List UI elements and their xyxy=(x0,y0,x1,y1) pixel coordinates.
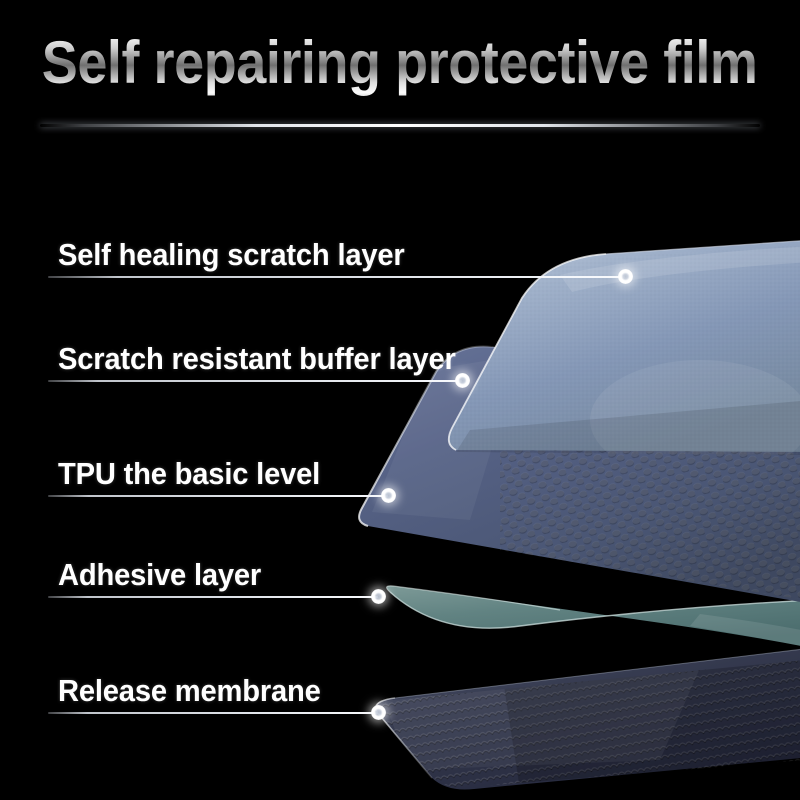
layer-release-membrane xyxy=(340,640,800,800)
leader-line xyxy=(48,380,462,382)
callout-self-healing-scratch-layer: Self healing scratch layer xyxy=(48,212,648,278)
callout-adhesive-layer: Adhesive layer xyxy=(48,532,408,598)
leader-dot xyxy=(455,373,470,388)
callout-label: Self healing scratch layer xyxy=(58,238,405,272)
leader-line xyxy=(48,276,625,278)
layer-adhesive xyxy=(387,586,800,648)
leader-dot xyxy=(618,269,633,284)
callout-label: TPU the basic level xyxy=(58,457,320,491)
leader-dot xyxy=(371,705,386,720)
page-title: Self repairing protective film xyxy=(42,26,758,100)
leader-dot xyxy=(381,488,396,503)
callout-label: Adhesive layer xyxy=(58,558,261,592)
infographic-canvas: Self repairing protective film Self heal… xyxy=(0,0,800,800)
leader-line xyxy=(48,596,378,598)
leader-line xyxy=(48,712,378,714)
title-container: Self repairing protective film xyxy=(0,26,800,102)
callout-scratch-resistant-buffer-layer: Scratch resistant buffer layer xyxy=(48,316,488,382)
callout-tpu-the-basic-level: TPU the basic level xyxy=(48,431,418,497)
callout-release-membrane: Release membrane xyxy=(48,648,408,714)
callout-label: Release membrane xyxy=(58,674,321,708)
leader-line xyxy=(48,495,388,497)
leader-dot xyxy=(371,589,386,604)
callout-label: Scratch resistant buffer layer xyxy=(58,342,456,376)
header-divider xyxy=(40,124,760,127)
